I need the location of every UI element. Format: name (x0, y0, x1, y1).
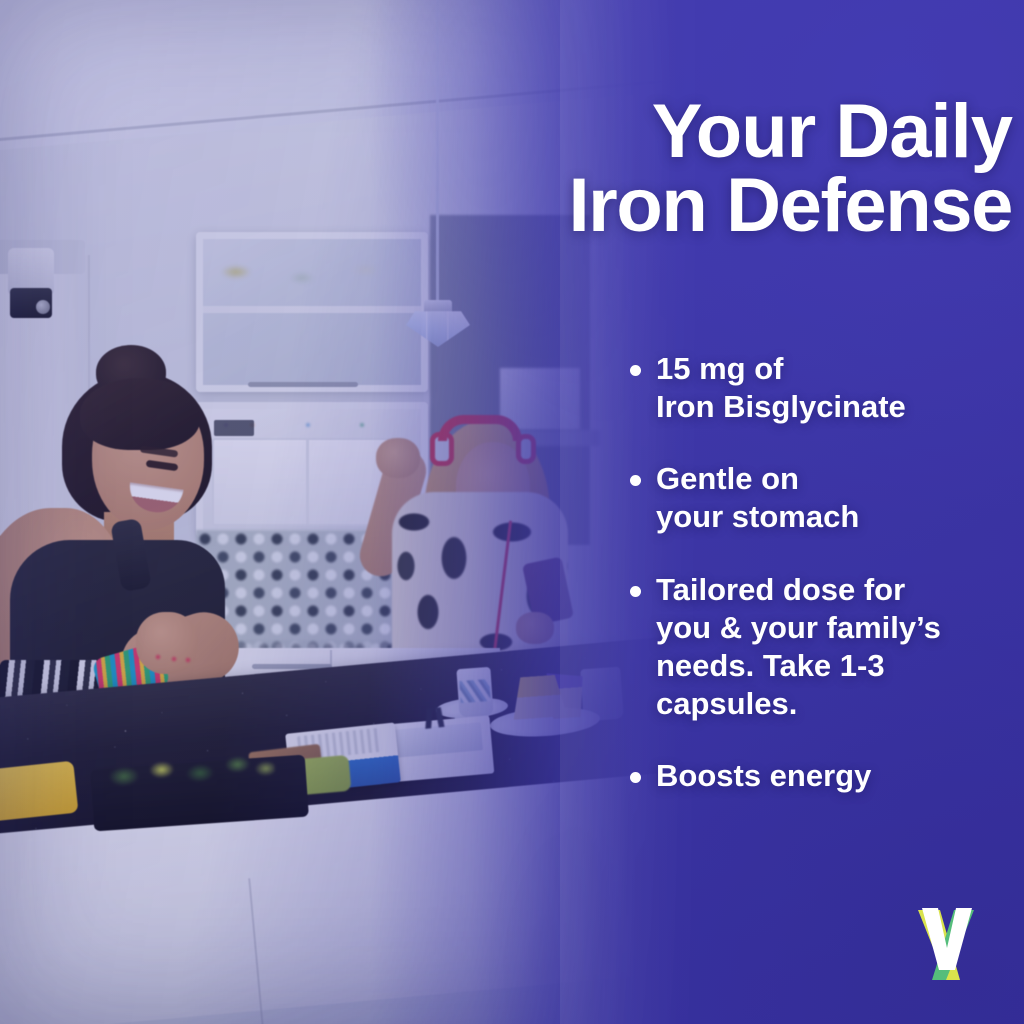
woman1-hair-front (80, 378, 200, 450)
blender-knob (36, 300, 50, 314)
cabinet-handle (248, 382, 358, 387)
bullet-dot-icon (630, 586, 641, 597)
pendant-light-cap (424, 300, 452, 312)
mug-pattern (459, 679, 490, 703)
woman2-hand (516, 612, 554, 644)
woman2-fist (376, 438, 420, 478)
headline-line-2: Iron Defense (520, 169, 1012, 243)
woman2-headphone-right (516, 434, 536, 464)
bullet-text: 15 mg of Iron Bisglycinate (656, 350, 906, 426)
bullet-dot-icon (630, 772, 641, 783)
bullet-text: Tailored dose for you & your family’s ne… (656, 571, 941, 724)
yellow-container (0, 761, 78, 822)
bullet-dot-icon (630, 475, 641, 486)
list-item: Tailored dose for you & your family’s ne… (630, 571, 1010, 724)
cabinet-contents (206, 244, 411, 304)
benefits-list: 15 mg of Iron Bisglycinate Gentle on you… (630, 350, 1010, 795)
cabinet-display-panel (214, 420, 254, 436)
brand-logo (910, 908, 982, 988)
headline: Your Daily Iron Defense (520, 95, 1012, 242)
woman2-headphone-band (438, 415, 522, 441)
bullet-text: Boosts energy (656, 757, 871, 795)
bullet-dot-icon (630, 365, 641, 376)
list-item: Gentle on your stomach (630, 460, 1010, 536)
ad-canvas: Your Daily Iron Defense 15 mg of Iron Bi… (0, 0, 1024, 1024)
pendant-light-cord (436, 0, 439, 305)
list-item: Boosts energy (630, 757, 1010, 795)
headline-line-1: Your Daily (652, 89, 1012, 174)
list-item: 15 mg of Iron Bisglycinate (630, 350, 1010, 426)
bullet-text: Gentle on your stomach (656, 460, 859, 536)
woman1-nails (150, 646, 194, 668)
v-logo-icon (910, 908, 982, 988)
